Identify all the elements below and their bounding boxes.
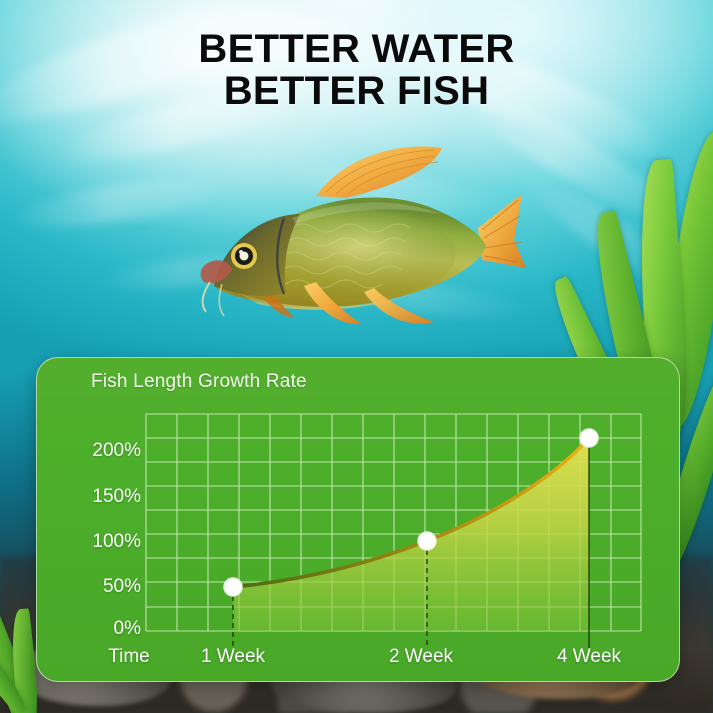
y-tick-label: 100% bbox=[51, 531, 141, 553]
headline-line-1: BETTER WATER bbox=[0, 28, 713, 70]
y-tick-label: 0% bbox=[51, 618, 141, 640]
headline-line-2: BETTER FISH bbox=[0, 70, 713, 112]
y-tick-label: 150% bbox=[51, 486, 141, 508]
x-tick-label-week4: 4 Week bbox=[539, 646, 639, 668]
x-tick-label-week1: 1 Week bbox=[183, 646, 283, 668]
poster-stage: BETTER WATER BETTER FISH Fish Length Gro… bbox=[0, 0, 713, 713]
x-tick-label-time: Time bbox=[89, 646, 169, 668]
y-tick-label: 200% bbox=[51, 440, 141, 462]
y-tick-label: 50% bbox=[51, 576, 141, 598]
carp-fish-image bbox=[196, 136, 526, 351]
page-title: BETTER WATER BETTER FISH bbox=[0, 28, 713, 113]
growth-chart-panel: Fish Length Growth Rate bbox=[36, 357, 680, 682]
x-tick-label-week2: 2 Week bbox=[371, 646, 471, 668]
